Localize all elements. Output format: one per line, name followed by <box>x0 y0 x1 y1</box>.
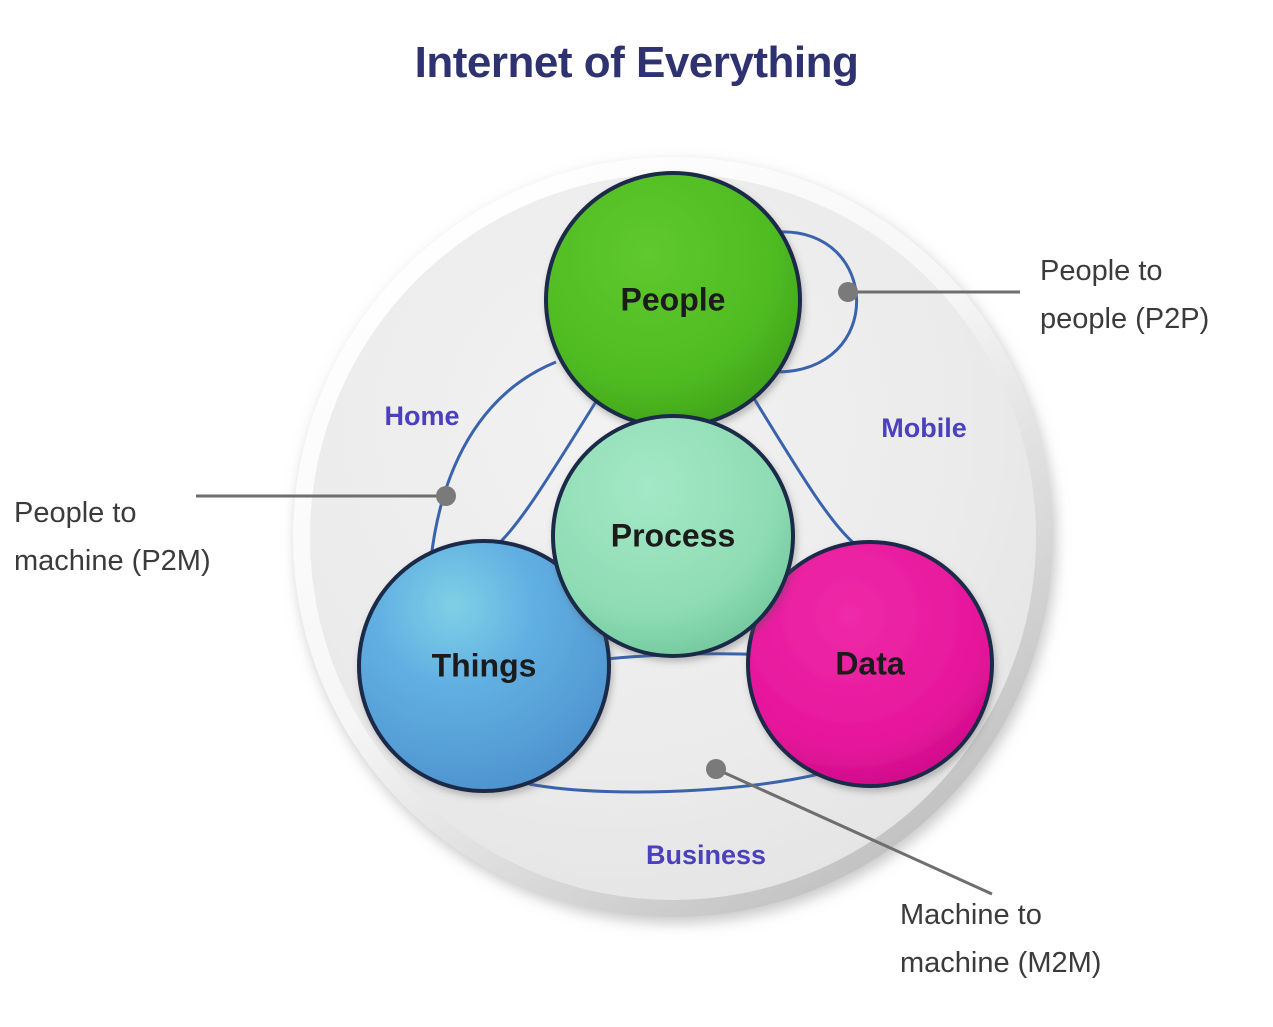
context-label-business: Business <box>646 840 766 870</box>
m2m-label-line1: Machine to <box>900 899 1042 931</box>
p2p-anchor-dot[interactable] <box>838 282 858 302</box>
context-label-home: Home <box>384 401 459 431</box>
m2m-anchor-dot[interactable] <box>706 759 726 779</box>
p2m-label-line2: machine (P2M) <box>14 545 211 577</box>
p2m-label-line1: People to <box>14 497 137 529</box>
things-label: Things <box>432 647 537 683</box>
p2p-label-line1: People to <box>1040 255 1163 287</box>
people-label: People <box>621 281 726 317</box>
process-label: Process <box>611 517 736 553</box>
context-label-mobile: Mobile <box>881 413 967 443</box>
data-label: Data <box>835 645 905 681</box>
m2m-label-line2: machine (M2M) <box>900 947 1101 979</box>
diagram-canvas: Internet of Everything <box>0 0 1273 1027</box>
p2p-label-line2: people (P2P) <box>1040 303 1209 335</box>
node-people[interactable]: People <box>546 173 800 427</box>
p2m-anchor-dot[interactable] <box>436 486 456 506</box>
internet-of-everything-diagram: Home Mobile Business People Things Data … <box>0 0 1273 1027</box>
node-process[interactable]: Process <box>553 416 793 656</box>
